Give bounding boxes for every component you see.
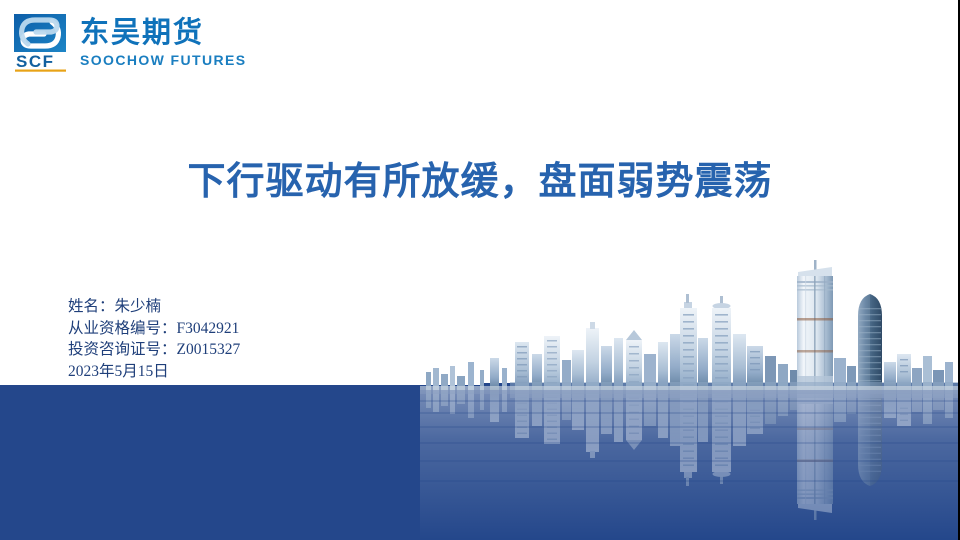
presenter-name-line: 姓名：朱少楠 [68, 296, 240, 318]
title-slide: SCF 东吴期货 SOOCHOW FUTURES 下行驱动有所放缓，盘面弱势震荡… [0, 0, 960, 540]
scf-logo-mark: SCF [14, 14, 70, 72]
bottom-blue-band-right [480, 383, 960, 540]
presenter-consulting-line: 投资咨询证号：Z0015327 [68, 339, 240, 361]
company-logo: SCF 东吴期货 SOOCHOW FUTURES [14, 14, 246, 72]
brand-name-en: SOOCHOW FUTURES [80, 51, 246, 69]
page-title: 下行驱动有所放缓，盘面弱势震荡 [0, 158, 960, 206]
svg-text:SCF: SCF [16, 52, 55, 71]
presenter-qualification-line: 从业资格编号：F3042921 [68, 318, 240, 340]
logo-wordmark: 东吴期货 SOOCHOW FUTURES [80, 14, 246, 69]
presentation-date-line: 2023年5月15日 [68, 361, 240, 383]
brand-name-cn: 东吴期货 [80, 17, 246, 49]
presenter-info: 姓名：朱少楠 从业资格编号：F3042921 投资咨询证号：Z0015327 2… [68, 296, 240, 382]
